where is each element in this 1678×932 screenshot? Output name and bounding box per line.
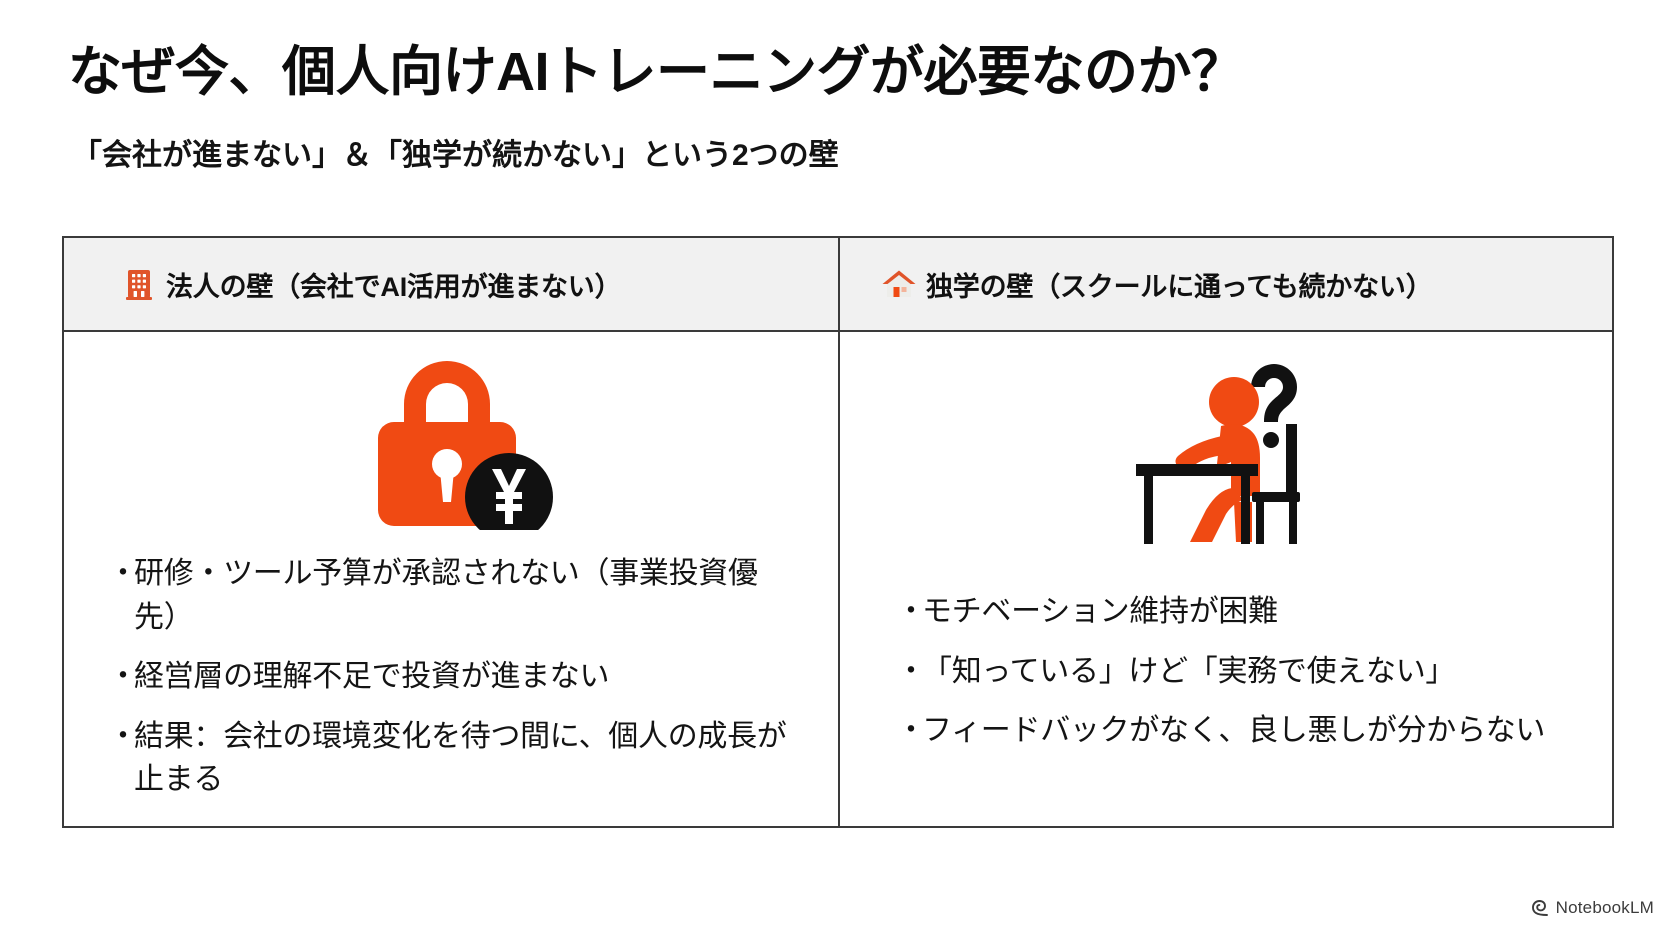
notebooklm-watermark-label: NotebookLM (1556, 898, 1654, 918)
list-item-text: 研修・ツール予算が承認されない（事業投資優先） (134, 552, 794, 639)
person-at-desk-confused-illustration (840, 332, 1612, 590)
slide-root: なぜ今、個人向けAIトレーニングが必要なのか？ 「会社が進まない」＆「独学が続か… (0, 0, 1678, 932)
table-header-row: 法人の壁（会社でAI活用が進まない） 独学の壁（スクールに通っても続かない） (64, 238, 1612, 332)
list-item: ・ フィードバックがなく、良し悪しが分からない (896, 709, 1576, 753)
page-subtitle: 「会社が進まない」＆「独学が続かない」という2つの壁 (72, 138, 839, 174)
table-header-cell-selfstudy: 独学の壁（スクールに通っても続かない） (838, 238, 1612, 330)
list-item-text: 経営層の理解不足で投資が進まない (134, 655, 794, 699)
list-item: ・ 研修・ツール予算が承認されない（事業投資優先） (108, 552, 794, 639)
list-item: ・ モチベーション維持が困難 (896, 590, 1576, 634)
page-title: なぜ今、個人向けAIトレーニングが必要なのか？ (68, 42, 1245, 102)
list-item-text: フィードバックがなく、良し悪しが分からない (922, 709, 1576, 753)
list-item-text: 結果：会社の環境変化を待つ間に、個人の成長が止まる (134, 715, 794, 802)
two-column-comparison-table: 法人の壁（会社でAI活用が進まない） 独学の壁（スクールに通っても続かない） (62, 236, 1614, 828)
table-header-label-selfstudy: 独学の壁（スクールに通っても続かない） (926, 265, 1433, 304)
list-item-text: モチベーション維持が困難 (922, 590, 1576, 634)
list-item: ・ 経営層の理解不足で投資が進まない (108, 655, 794, 699)
office-building-icon (122, 267, 156, 301)
notebooklm-watermark: NotebookLM (1531, 898, 1654, 918)
list-item: ・ 「知っている」けど「実務で使えない」 (896, 650, 1576, 694)
bullet-list-selfstudy: ・ モチベーション維持が困難 ・ 「知っている」けど「実務で使えない」 ・ フィ… (840, 590, 1612, 826)
house-icon (882, 267, 916, 301)
bullet-marker: ・ (896, 650, 922, 694)
bullet-marker: ・ (896, 590, 922, 634)
bullet-marker: ・ (108, 655, 134, 699)
bullet-marker: ・ (896, 709, 922, 753)
bullet-marker: ・ (108, 552, 134, 639)
list-item-text: 「知っている」けど「実務で使えない」 (922, 650, 1576, 694)
bullet-marker: ・ (108, 715, 134, 802)
locked-budget-illustration (64, 332, 838, 552)
list-item: ・ 結果：会社の環境変化を待つ間に、個人の成長が止まる (108, 715, 794, 802)
notebooklm-spiral-icon (1531, 899, 1549, 917)
table-header-cell-corporate: 法人の壁（会社でAI活用が進まない） (64, 238, 838, 330)
table-body-row: ・ 研修・ツール予算が承認されない（事業投資優先） ・ 経営層の理解不足で投資が… (64, 332, 1612, 826)
table-cell-selfstudy: ・ モチベーション維持が困難 ・ 「知っている」けど「実務で使えない」 ・ フィ… (838, 332, 1612, 826)
bullet-list-corporate: ・ 研修・ツール予算が承認されない（事業投資優先） ・ 経営層の理解不足で投資が… (64, 552, 838, 826)
table-header-label-corporate: 法人の壁（会社でAI活用が進まない） (166, 265, 621, 304)
table-cell-corporate: ・ 研修・ツール予算が承認されない（事業投資優先） ・ 経営層の理解不足で投資が… (64, 332, 838, 826)
